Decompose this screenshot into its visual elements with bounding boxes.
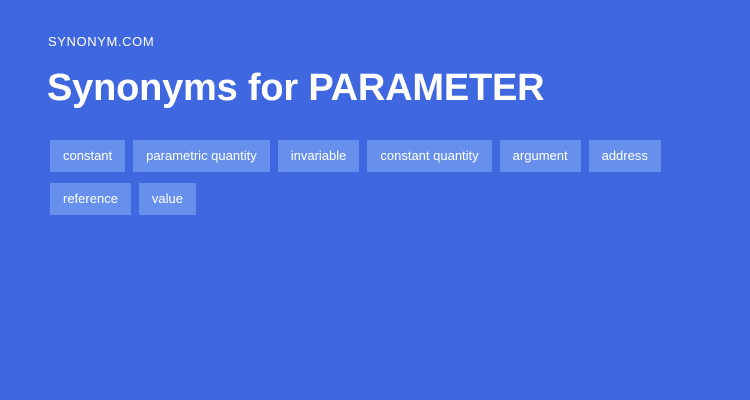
synonym-list: constant parametric quantity invariable … xyxy=(50,140,710,215)
synonym-tag[interactable]: value xyxy=(139,183,196,215)
synonym-tag[interactable]: address xyxy=(589,140,661,172)
synonyms-page: SYNONYM.COM Synonyms for PARAMETER const… xyxy=(0,0,750,400)
synonym-tag[interactable]: reference xyxy=(50,183,131,215)
synonym-tag[interactable]: constant xyxy=(50,140,125,172)
synonym-tag[interactable]: argument xyxy=(500,140,581,172)
site-brand: SYNONYM.COM xyxy=(48,34,154,50)
synonym-tag[interactable]: parametric quantity xyxy=(133,140,270,172)
page-title: Synonyms for PARAMETER xyxy=(47,66,544,110)
synonym-tag[interactable]: invariable xyxy=(278,140,360,172)
synonym-tag[interactable]: constant quantity xyxy=(367,140,491,172)
